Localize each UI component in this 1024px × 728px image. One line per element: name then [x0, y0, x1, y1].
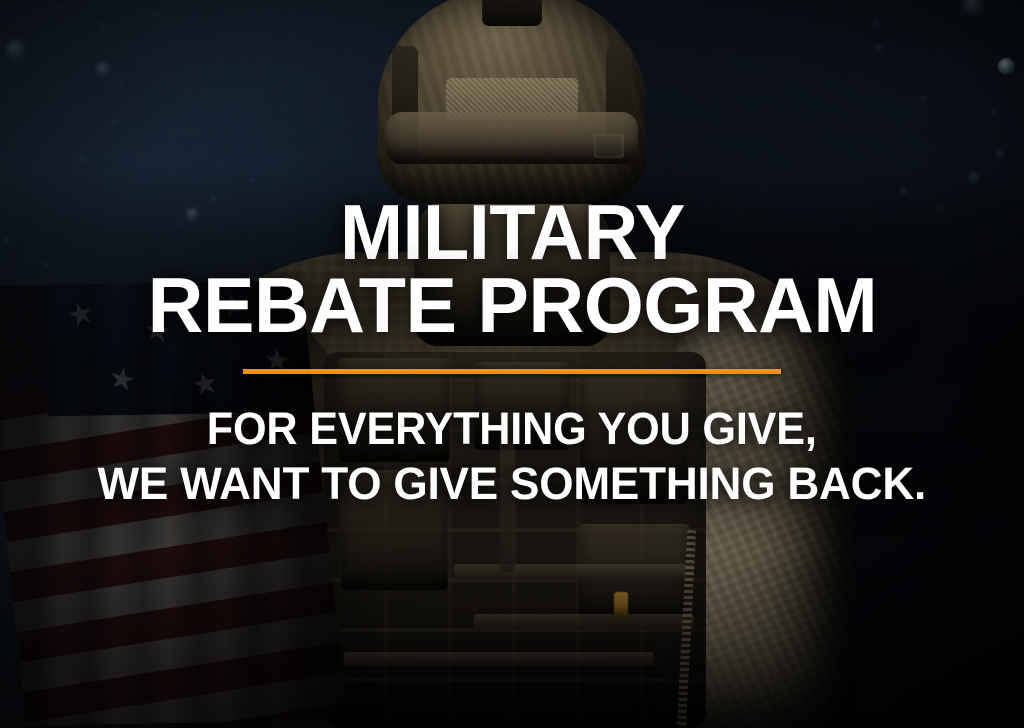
headline-line-2: REBATE PROGRAM: [147, 269, 877, 342]
subheadline: FOR EVERYTHING YOU GIVE, WE WANT TO GIVE…: [89, 402, 934, 512]
headline-line-1: MILITARY: [155, 196, 870, 269]
subheadline-line-1: FOR EVERYTHING YOU GIVE,: [106, 402, 918, 457]
military-rebate-banner: ★ ★ ★ ★ ★ ★ MILITARY REBATE PROGRAM FOR …: [0, 0, 1024, 728]
page-title: MILITARY REBATE PROGRAM: [144, 196, 881, 343]
headline-wrap: MILITARY REBATE PROGRAM: [144, 196, 881, 343]
orange-divider: [243, 369, 781, 374]
banner-content: MILITARY REBATE PROGRAM FOR EVERYTHING Y…: [0, 0, 1024, 728]
subheadline-line-2: WE WANT TO GIVE SOMETHING BACK.: [98, 457, 927, 512]
